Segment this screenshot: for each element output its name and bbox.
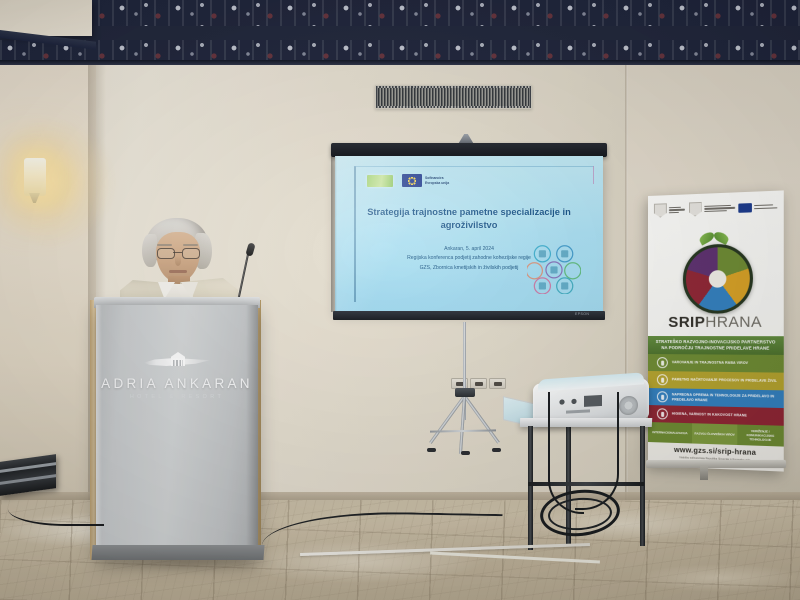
banner-logo-ministry bbox=[688, 201, 734, 217]
podium-edge-shadow bbox=[246, 305, 258, 560]
banner-foot bbox=[700, 466, 708, 480]
speaker-eyebrow bbox=[157, 244, 172, 246]
glasses-bridge bbox=[173, 252, 182, 253]
wall-sconce-lamp bbox=[24, 158, 46, 196]
slide-logo-row: Sofinancira Evropska unija bbox=[367, 174, 449, 187]
banner-base-bar bbox=[646, 460, 786, 468]
banner-row-label: HIGIENA, VARNOST IN KAKOVOST HRANE bbox=[672, 412, 747, 419]
adria-ankaran-logo-icon bbox=[144, 352, 210, 369]
glasses-lens bbox=[182, 248, 200, 259]
banner-row: VAROVANJE IN TRAJNOSTNA RABA VIROV bbox=[648, 354, 784, 373]
air-vent-louvers bbox=[378, 88, 529, 106]
wall-seam-right bbox=[625, 40, 628, 510]
banner-footer-cell: VERIŽENJE / KOMUNIKACIJSKE TEHNOLOGIJE bbox=[737, 424, 783, 446]
logo-building bbox=[171, 352, 185, 366]
focus-area-icon bbox=[657, 374, 668, 385]
left-wall-panel bbox=[0, 36, 96, 506]
logo-text-lines bbox=[704, 205, 735, 212]
banner-footer-cell: INTERNACIONALIZACIJA bbox=[648, 422, 692, 443]
screen-edge-shadow bbox=[331, 156, 337, 312]
banner-tagline-strip: STRATEŠKO RAZVOJNO-INOVACIJSKO PARTNERST… bbox=[648, 336, 784, 355]
screen-brand-label: EPSON bbox=[575, 312, 589, 316]
speaker-eyebrow bbox=[183, 244, 198, 246]
screen-top-bar bbox=[331, 143, 607, 157]
podium-lectern bbox=[96, 305, 258, 560]
banner-row-label: PAMETNO NAČRTOVANJE PROCESOV IN PRIDELAV… bbox=[672, 377, 777, 383]
emblem-hub bbox=[709, 270, 727, 288]
sdg-icon-wheel bbox=[527, 244, 581, 294]
partner-logo-icon bbox=[367, 175, 393, 187]
podium-branding: ADRIA ANKARAN HOTEL & RESORT bbox=[96, 352, 258, 400]
table-leg bbox=[640, 426, 645, 546]
podium-base bbox=[91, 545, 264, 560]
rollup-banner: SRIPHRANA STRATEŠKO RAZVOJNO-INOVACIJSKO… bbox=[648, 190, 784, 471]
banner-row-label: NAPREDNA OPREMA IN TEHNOLOGIJE ZA PRIDEL… bbox=[672, 392, 784, 404]
banner-tagline-line2: NA PODROČJU TRAJNOSTNE PRIDELAVE HRANE bbox=[661, 345, 769, 352]
ornament-band-upper bbox=[0, 0, 800, 26]
wall-lamp-glow bbox=[0, 120, 120, 250]
logo-text-lines bbox=[754, 205, 777, 209]
projection-screen: Sofinancira Evropska unija Strategija tr… bbox=[331, 143, 607, 323]
air-vent-grille bbox=[375, 85, 532, 109]
slide-right-accent-line bbox=[593, 166, 594, 184]
photo-scene: Sofinancira Evropska unija Strategija tr… bbox=[0, 0, 800, 600]
eu-flag-icon bbox=[738, 203, 752, 213]
emblem-pie-wheel bbox=[683, 243, 753, 314]
speaker-mouth bbox=[169, 270, 187, 273]
banner-logotype-light: HRANA bbox=[705, 313, 762, 331]
podium-brand-tagline: HOTEL & RESORT bbox=[96, 394, 258, 400]
eu-logo-line2: Evropska unija bbox=[425, 181, 449, 185]
banner-footer-strip: INTERNACIONALIZACIJA RAZVOJ ČLOVEŠKIH VI… bbox=[648, 422, 784, 447]
speaker-hair-side bbox=[142, 234, 157, 267]
ceiling-edge bbox=[0, 60, 800, 65]
slide-title: Strategija trajnostne pametne specializa… bbox=[357, 206, 581, 233]
leaf-icon bbox=[699, 233, 730, 245]
banner-logo-eu-structural bbox=[654, 203, 685, 218]
tripod-foot bbox=[492, 448, 501, 452]
ceiling-ornament-border bbox=[0, 0, 800, 64]
logo-text-lines bbox=[669, 207, 685, 213]
coat-of-arms-icon bbox=[688, 202, 701, 217]
banner-logo-row bbox=[654, 197, 777, 220]
wall-socket bbox=[489, 378, 506, 389]
table-leg bbox=[528, 426, 533, 550]
focus-area-icon bbox=[657, 357, 668, 368]
eu-logo-line1: Sofinancira bbox=[425, 176, 449, 180]
tripod-foot bbox=[427, 448, 436, 452]
ceiling-notch bbox=[0, 0, 92, 36]
podium-brand-name: ADRIA ANKARAN bbox=[96, 376, 258, 391]
focus-area-icon bbox=[657, 391, 668, 402]
eu-flag-icon bbox=[402, 174, 422, 187]
screen-bottom-bar bbox=[333, 311, 605, 320]
slide-left-accent-line bbox=[354, 166, 356, 302]
eu-logo-text: Sofinancira Evropska unija bbox=[425, 176, 449, 186]
tripod-hub bbox=[455, 388, 475, 397]
banner-logo-eu-flag bbox=[738, 202, 777, 213]
banner-logotype: SRIPHRANA bbox=[648, 313, 784, 331]
slide-top-accent-line bbox=[354, 166, 594, 167]
banner-row-label: VAROVANJE IN TRAJNOSTNA RABA VIROV bbox=[672, 360, 748, 366]
crest-icon bbox=[654, 203, 667, 218]
screen-surface: Sofinancira Evropska unija Strategija tr… bbox=[335, 156, 603, 312]
banner-logotype-bold: SRIP bbox=[668, 314, 705, 331]
tripod-foot bbox=[461, 451, 470, 455]
presentation-slide: Sofinancira Evropska unija Strategija tr… bbox=[335, 156, 603, 312]
srip-hrana-emblem bbox=[683, 241, 747, 305]
focus-area-icon bbox=[657, 408, 668, 419]
eu-cofunding-logo: Sofinancira Evropska unija bbox=[402, 174, 449, 187]
banner-footer-cell: RAZVOJ ČLOVEŠKIH VIROV bbox=[692, 423, 737, 445]
speaker-nose bbox=[175, 256, 181, 266]
glasses-lens bbox=[157, 248, 175, 259]
